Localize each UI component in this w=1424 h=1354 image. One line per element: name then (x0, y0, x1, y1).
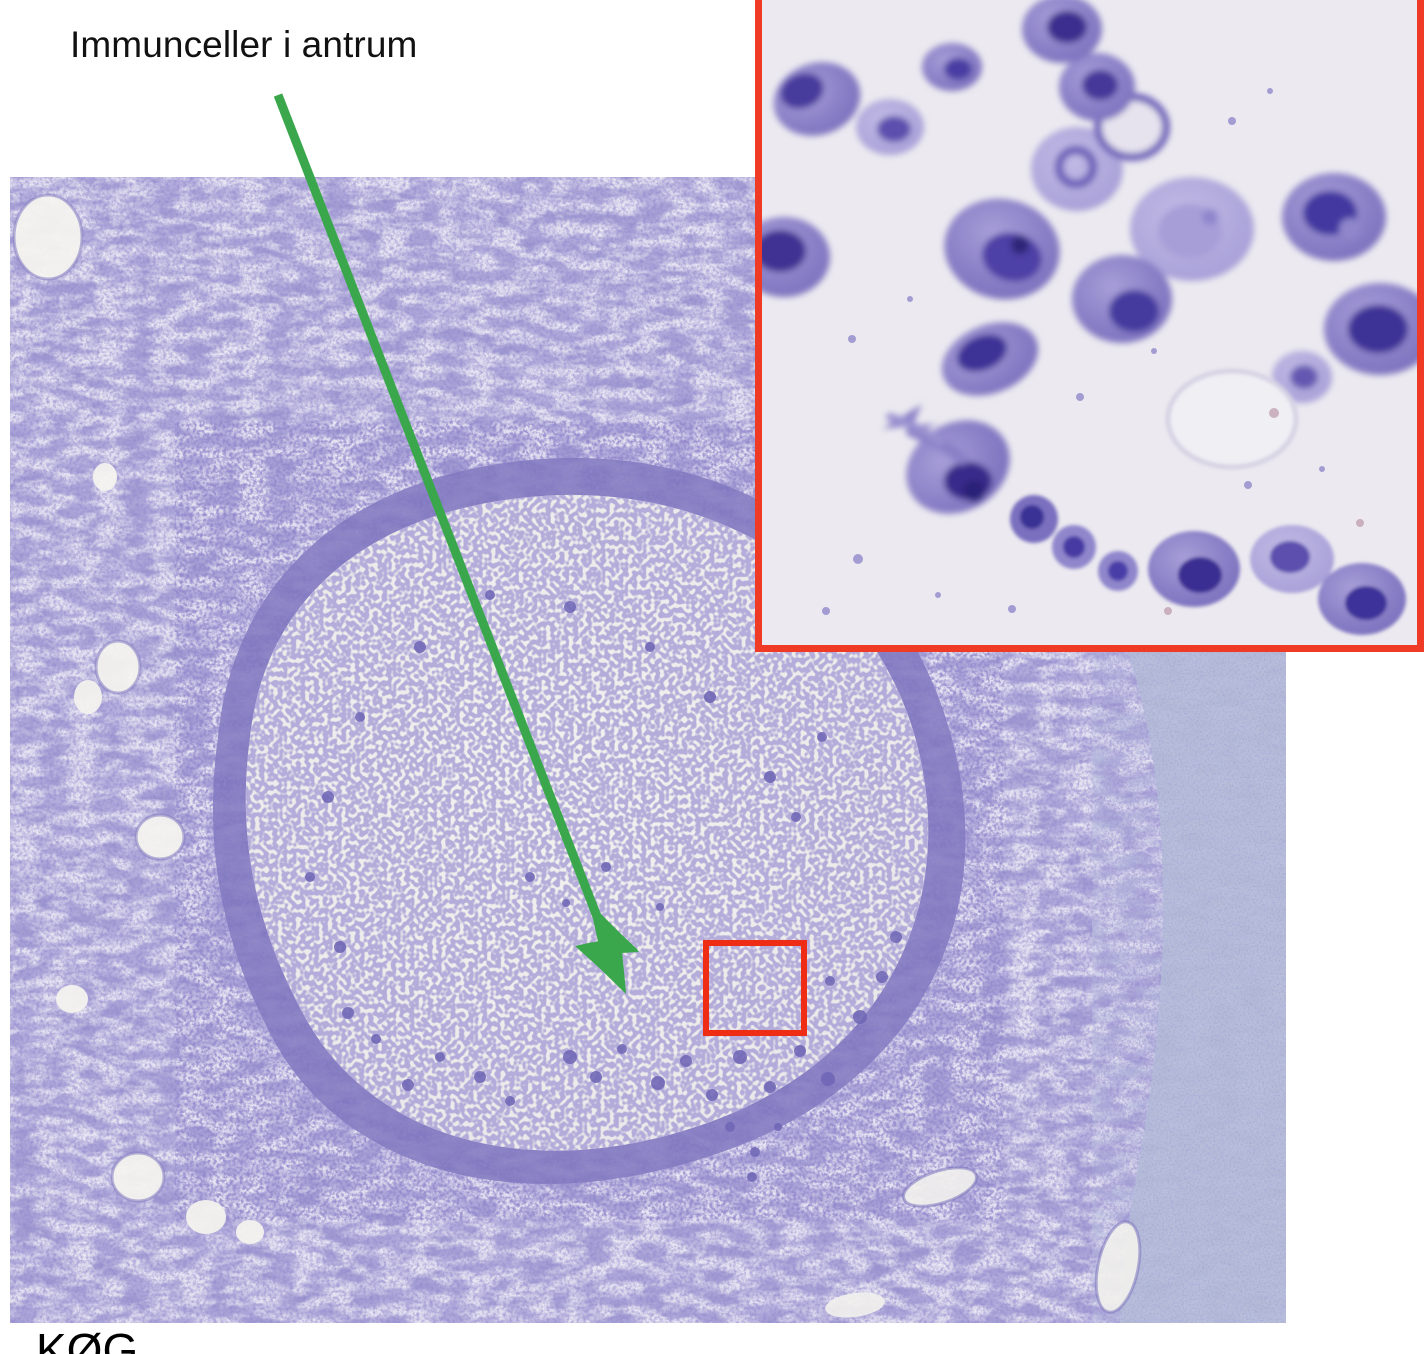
immune-cell-inset-svg (762, 0, 1417, 645)
slide-canvas: Immunceller i antrum (0, 0, 1424, 1354)
page-title: Immunceller i antrum (70, 22, 417, 68)
immune-cell-inset-image (755, 0, 1424, 652)
footer-text: KØG (36, 1327, 138, 1354)
region-of-interest-box (703, 940, 807, 1036)
